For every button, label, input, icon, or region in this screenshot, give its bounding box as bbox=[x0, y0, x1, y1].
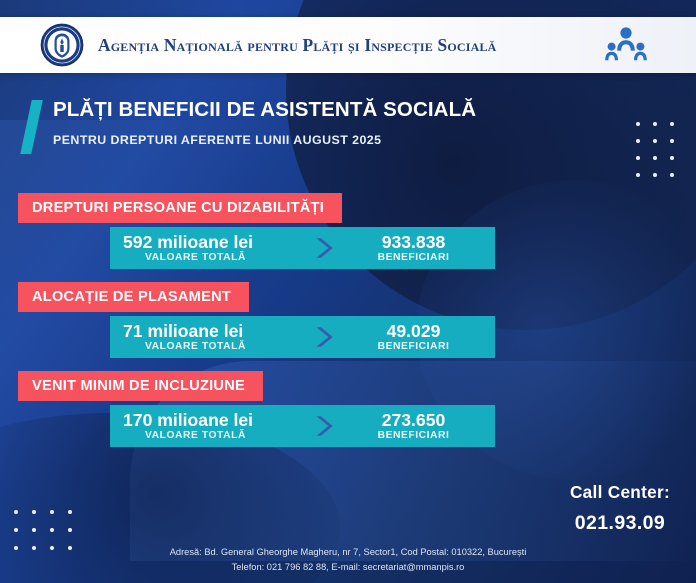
footer-address-line: Adresă: Bd. General Gheorghe Magheru, nr… bbox=[0, 545, 696, 559]
benefit-beneficiaries-group: 49.029BENEFICIARI bbox=[340, 322, 495, 352]
benefit-stats-bar: 170 milioane leiVALOARE TOTALĂ273.650BEN… bbox=[110, 405, 495, 447]
benefit-total-caption: VALOARE TOTALĂ bbox=[123, 430, 306, 441]
romania-government-seal-icon bbox=[40, 23, 84, 67]
benefit-stats-bar: 592 milioane leiVALOARE TOTALĂ933.838BEN… bbox=[110, 227, 495, 269]
header-band: Agenția Națională pentru Plăți și Inspec… bbox=[0, 17, 696, 73]
benefit-block: VENIT MINIM DE INCLUZIUNE170 milioane le… bbox=[0, 371, 696, 447]
title-block: PLĂȚI BENEFICII DE ASISTENTĂ SOCIALĂ PEN… bbox=[26, 98, 476, 154]
benefit-value-group: 71 milioane leiVALOARE TOTALĂ bbox=[110, 322, 306, 352]
decorative-dot bbox=[636, 139, 640, 143]
footer-phone-email-line: Telefon: 021 796 82 88, E-mail: secretar… bbox=[0, 560, 696, 574]
teal-slash-accent-icon bbox=[20, 100, 42, 154]
decorative-dot bbox=[68, 528, 72, 532]
benefits-list: DREPTURI PERSOANE CU DIZABILITĂȚI592 mil… bbox=[0, 193, 696, 460]
chevron-right-icon bbox=[306, 322, 340, 352]
call-center-number: 021.93.09 bbox=[570, 512, 670, 535]
decorative-dot bbox=[670, 173, 674, 177]
benefit-block: DREPTURI PERSOANE CU DIZABILITĂȚI592 mil… bbox=[0, 193, 696, 269]
benefit-value-group: 170 milioane leiVALOARE TOTALĂ bbox=[110, 411, 306, 441]
decorative-dot bbox=[653, 173, 657, 177]
decorative-dot bbox=[50, 528, 54, 532]
decorative-dot bbox=[32, 528, 36, 532]
decorative-dot bbox=[653, 139, 657, 143]
decorative-dot bbox=[670, 139, 674, 143]
benefit-beneficiaries-caption: BENEFICIARI bbox=[340, 430, 487, 441]
benefit-value-group: 592 milioane leiVALOARE TOTALĂ bbox=[110, 233, 306, 263]
agency-title: Agenția Națională pentru Plăți și Inspec… bbox=[98, 35, 497, 56]
chevron-right-icon bbox=[306, 233, 340, 263]
benefit-block: ALOCAȚIE DE PLASAMENT71 milioane leiVALO… bbox=[0, 282, 696, 358]
benefit-stats-bar: 71 milioane leiVALOARE TOTALĂ49.029BENEF… bbox=[110, 316, 495, 358]
decorative-dot bbox=[636, 156, 640, 160]
call-center-label: Call Center: bbox=[570, 482, 670, 503]
benefit-total-value: 592 milioane lei bbox=[123, 233, 306, 251]
benefit-category-label: VENIT MINIM DE INCLUZIUNE bbox=[18, 371, 263, 401]
benefit-beneficiaries-group: 933.838BENEFICIARI bbox=[340, 233, 495, 263]
decorative-dot bbox=[50, 510, 54, 514]
benefit-beneficiaries-count: 273.650 bbox=[340, 411, 487, 429]
benefit-beneficiaries-count: 933.838 bbox=[340, 233, 487, 251]
benefit-beneficiaries-caption: BENEFICIARI bbox=[340, 252, 487, 263]
benefit-total-caption: VALOARE TOTALĂ bbox=[123, 252, 306, 263]
decorative-dot bbox=[636, 173, 640, 177]
decorative-dot bbox=[14, 528, 18, 532]
benefit-category-label: ALOCAȚIE DE PLASAMENT bbox=[18, 282, 249, 312]
decorative-dot-grid-bottom-left bbox=[14, 510, 72, 550]
decorative-dot bbox=[14, 510, 18, 514]
decorative-dot-grid-right bbox=[636, 122, 674, 177]
decorative-dot bbox=[653, 156, 657, 160]
benefit-total-value: 170 milioane lei bbox=[123, 411, 306, 429]
benefit-total-value: 71 milioane lei bbox=[123, 322, 306, 340]
decorative-dot bbox=[68, 510, 72, 514]
call-center-block: Call Center: 021.93.09 bbox=[570, 482, 670, 535]
benefit-beneficiaries-caption: BENEFICIARI bbox=[340, 341, 487, 352]
chevron-right-icon bbox=[306, 411, 340, 441]
footer-contact: Adresă: Bd. General Gheorghe Magheru, nr… bbox=[0, 545, 696, 574]
decorative-dot bbox=[32, 510, 36, 514]
benefit-beneficiaries-group: 273.650BENEFICIARI bbox=[340, 411, 495, 441]
decorative-dot bbox=[670, 122, 674, 126]
decorative-dot bbox=[670, 156, 674, 160]
benefit-total-caption: VALOARE TOTALĂ bbox=[123, 341, 306, 352]
infographic-poster: Agenția Națională pentru Plăți și Inspec… bbox=[0, 0, 696, 583]
anpis-people-logo-icon bbox=[602, 25, 650, 65]
page-subtitle: PENTRU DREPTURI AFERENTE LUNII AUGUST 20… bbox=[53, 133, 476, 147]
benefit-category-label: DREPTURI PERSOANE CU DIZABILITĂȚI bbox=[18, 193, 342, 223]
decorative-dot bbox=[636, 122, 640, 126]
page-title: PLĂȚI BENEFICII DE ASISTENTĂ SOCIALĂ bbox=[53, 98, 476, 122]
decorative-dot bbox=[653, 122, 657, 126]
benefit-beneficiaries-count: 49.029 bbox=[340, 322, 487, 340]
